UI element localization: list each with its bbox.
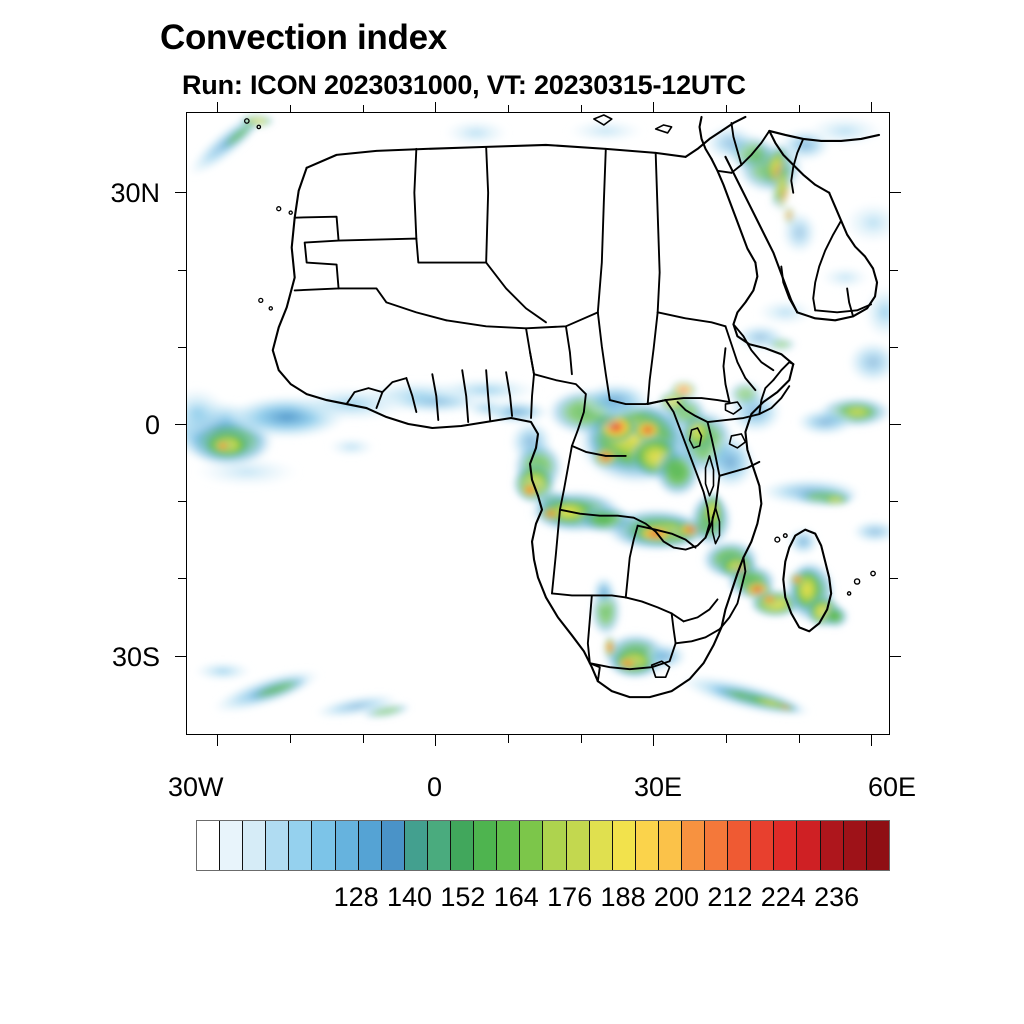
colorbar-cell	[289, 821, 312, 870]
colorbar-tick-label: 128	[334, 882, 379, 913]
colorbar-cell	[543, 821, 566, 870]
colorbar-cell	[312, 821, 335, 870]
colorbar-cell	[197, 821, 220, 870]
lon-label-30e: 30E	[634, 772, 682, 803]
colorbar-cell	[844, 821, 867, 870]
colorbar-cells	[196, 820, 890, 871]
colorbar-tick-label: 236	[814, 882, 859, 913]
colorbar-tick-label: 152	[440, 882, 485, 913]
colorbar-cell	[359, 821, 382, 870]
colorbar-cell	[774, 821, 797, 870]
colorbar-cell	[751, 821, 774, 870]
lat-label-30n: 30N	[60, 178, 160, 209]
colorbar-cell	[797, 821, 820, 870]
colorbar-tick-label: 224	[761, 882, 806, 913]
colorbar-cell	[728, 821, 751, 870]
colorbar-cell	[659, 821, 682, 870]
colorbar-cell	[336, 821, 359, 870]
convection-field-shading	[187, 113, 889, 727]
colorbar-cell	[405, 821, 428, 870]
colorbar-tick-label: 164	[494, 882, 539, 913]
colorbar-tick-label: 188	[601, 882, 646, 913]
colorbar-cell	[266, 821, 289, 870]
colorbar-tick-label: 176	[547, 882, 592, 913]
colorbar-cell	[428, 821, 451, 870]
colorbar-tick-label: 200	[654, 882, 699, 913]
colorbar-cell	[613, 821, 636, 870]
run-valid-time-subtitle: Run: ICON 2023031000, VT: 20230315-12UTC	[182, 70, 746, 101]
lon-label-60e: 60E	[868, 772, 916, 803]
convection-index-figure: Convection index Run: ICON 2023031000, V…	[0, 0, 1024, 1024]
lon-label-30w: 30W	[168, 772, 224, 803]
colorbar-cell	[451, 821, 474, 870]
colorbar-tick-label: 140	[387, 882, 432, 913]
colorbar-cell	[520, 821, 543, 870]
colorbar-cell	[867, 821, 889, 870]
map-plot-area	[186, 112, 890, 735]
colorbar-cell	[705, 821, 728, 870]
colorbar	[196, 820, 890, 871]
colorbar-cell	[382, 821, 405, 870]
lon-label-0: 0	[427, 772, 442, 803]
colorbar-cell	[567, 821, 590, 870]
map-canvas	[187, 113, 889, 734]
colorbar-tick-labels: 128140152164176188200212224236	[196, 882, 890, 916]
lat-label-30s: 30S	[60, 642, 160, 673]
colorbar-cell	[243, 821, 266, 870]
colorbar-cell	[821, 821, 844, 870]
colorbar-cell	[590, 821, 613, 870]
colorbar-cell	[497, 821, 520, 870]
lat-label-0: 0	[60, 410, 160, 441]
colorbar-cell	[682, 821, 705, 870]
colorbar-cell	[636, 821, 659, 870]
page-title: Convection index	[160, 18, 447, 58]
colorbar-cell	[220, 821, 243, 870]
colorbar-tick-label: 212	[707, 882, 752, 913]
colorbar-cell	[474, 821, 497, 870]
